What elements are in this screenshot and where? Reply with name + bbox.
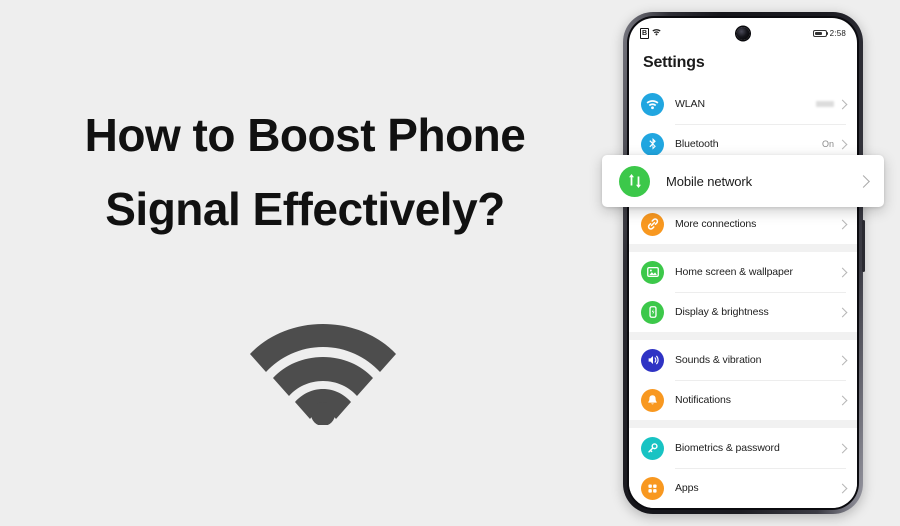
chevron-right-icon (838, 99, 848, 109)
settings-row-more-connections[interactable]: More connections (629, 204, 857, 244)
front-camera-icon (737, 27, 750, 40)
status-bar: B 2:58 (629, 18, 857, 48)
brightness-icon (641, 301, 664, 324)
settings-list: WLANBluetoothOnMobile networkMore connec… (629, 84, 857, 508)
settings-title: Settings (643, 54, 705, 72)
headline-line-1: How to Boost Phone (85, 109, 526, 161)
settings-group: Home screen & wallpaperDisplay & brightn… (629, 252, 857, 332)
wifi-signal-icon (248, 310, 398, 425)
settings-row-label: Notifications (675, 394, 839, 406)
chevron-right-icon (838, 219, 848, 229)
wifi-icon (641, 93, 664, 116)
chevron-right-icon (838, 483, 848, 493)
headline-line-2: Signal Effectively? (0, 172, 610, 246)
settings-row-notifications[interactable]: Notifications (629, 380, 857, 420)
bluetooth-icon (641, 133, 664, 156)
settings-row-label: Sounds & vibration (675, 354, 839, 366)
phone-bezel: B 2:58 (627, 16, 859, 510)
settings-row-value: On (822, 139, 834, 149)
key-icon (641, 437, 664, 460)
carrier-badge: B (640, 28, 649, 39)
link-icon (641, 213, 664, 236)
apps-grid-icon (641, 477, 664, 500)
wifi-icon (652, 28, 661, 38)
settings-row-sounds-vibration[interactable]: Sounds & vibration (629, 340, 857, 380)
mobile-network-highlight-card[interactable]: Mobile network (602, 155, 884, 207)
battery-icon (813, 30, 827, 37)
image-icon (641, 261, 664, 284)
chevron-right-icon (838, 355, 848, 365)
settings-row-wlan[interactable]: WLAN (629, 84, 857, 124)
settings-group: Sounds & vibrationNotifications (629, 340, 857, 420)
settings-row-label: Biometrics & password (675, 442, 839, 454)
settings-row-apps[interactable]: Apps (629, 468, 857, 508)
settings-row-home-screen-wallpaper[interactable]: Home screen & wallpaper (629, 252, 857, 292)
settings-row-label: Apps (675, 482, 839, 494)
settings-row-label: More connections (675, 218, 839, 230)
mobile-network-label: Mobile network (666, 174, 859, 189)
chevron-right-icon (838, 139, 848, 149)
bell-icon (641, 389, 664, 412)
list-group-separator (629, 244, 857, 252)
settings-row-label: WLAN (675, 98, 816, 110)
mobile-network-icon (619, 166, 650, 197)
settings-row-value-redacted (816, 101, 834, 107)
settings-row-display-brightness[interactable]: Display & brightness (629, 292, 857, 332)
settings-row-label: Home screen & wallpaper (675, 266, 839, 278)
settings-group: Biometrics & passwordApps (629, 428, 857, 508)
status-bar-time: 2:58 (830, 29, 846, 38)
phone-screen: B 2:58 (629, 18, 857, 508)
volume-button[interactable] (862, 220, 865, 272)
speaker-icon (641, 349, 664, 372)
settings-row-label: Bluetooth (675, 138, 822, 150)
chevron-right-icon (838, 395, 848, 405)
chevron-right-icon (857, 175, 870, 188)
chevron-right-icon (838, 307, 848, 317)
settings-row-label: Display & brightness (675, 306, 839, 318)
phone-device: B 2:58 (623, 12, 863, 514)
page-title: How to Boost Phone Signal Effectively? (0, 98, 610, 246)
settings-row-biometrics-password[interactable]: Biometrics & password (629, 428, 857, 468)
list-group-separator (629, 420, 857, 428)
chevron-right-icon (838, 443, 848, 453)
promo-banner: How to Boost Phone Signal Effectively? B (0, 0, 900, 526)
chevron-right-icon (838, 267, 848, 277)
list-group-separator (629, 332, 857, 340)
